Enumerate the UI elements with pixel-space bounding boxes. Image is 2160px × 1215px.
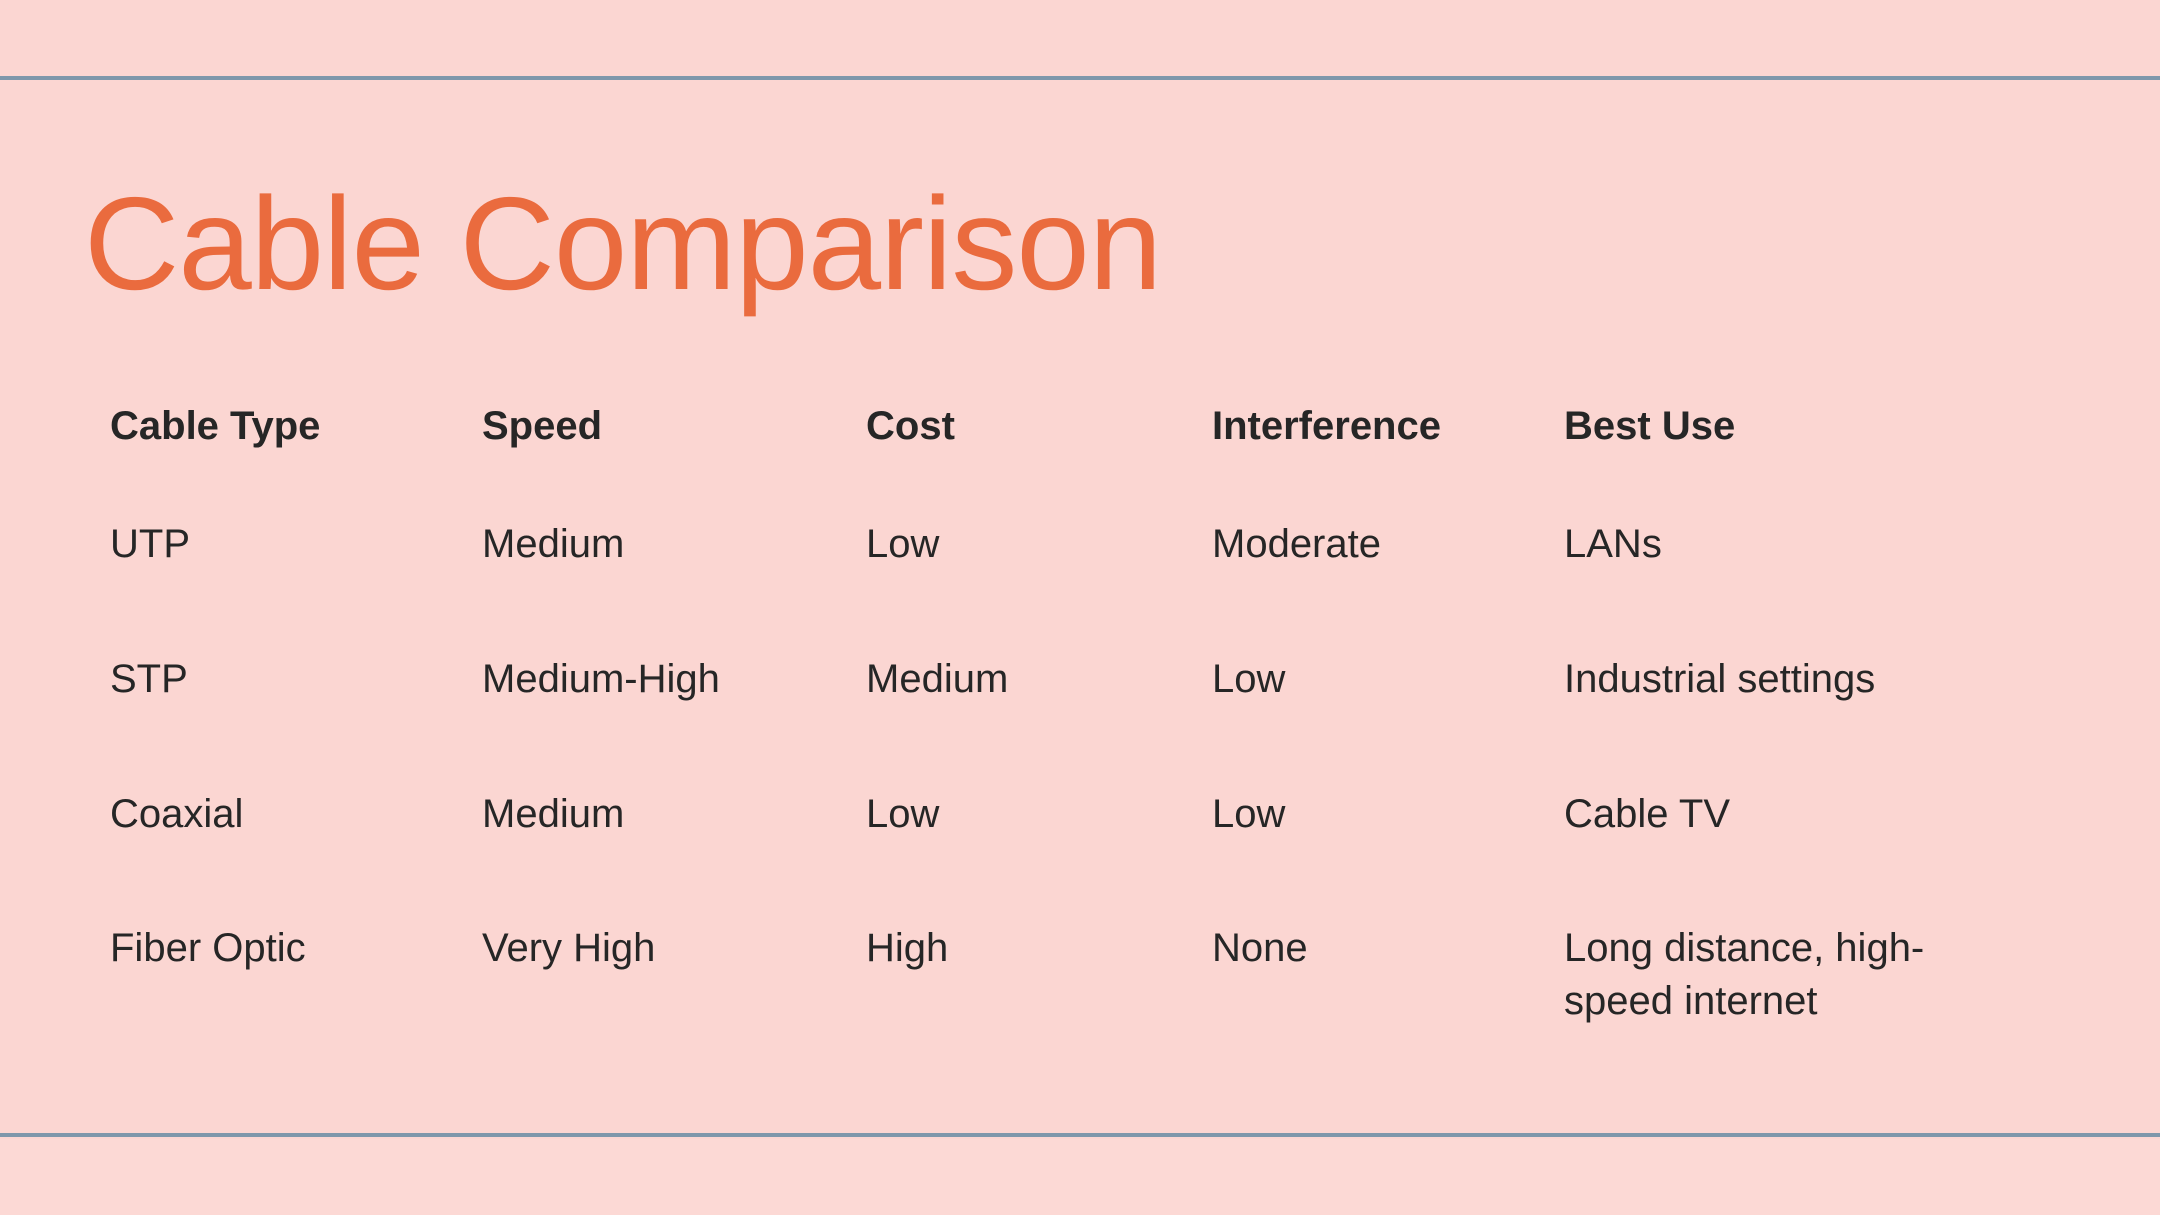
cell-cost: High	[866, 922, 1156, 975]
cell-speed: Medium	[482, 518, 812, 571]
column-header-interference: Interference	[1212, 400, 1532, 453]
cell-best-use: LANs	[1564, 518, 1984, 571]
column-header-cable-type: Cable Type	[110, 400, 440, 453]
cell-cable-type: UTP	[110, 518, 440, 571]
cable-comparison-table: Cable Type Speed Cost Interference Best …	[0, 0, 2160, 1215]
cell-cable-type: Fiber Optic	[110, 922, 440, 975]
cell-cable-type: STP	[110, 653, 440, 706]
cell-interference: Low	[1212, 653, 1532, 706]
column-header-cost: Cost	[866, 400, 1156, 453]
cell-speed: Medium	[482, 788, 812, 841]
cell-cost: Low	[866, 518, 1156, 571]
column-header-best-use: Best Use	[1564, 400, 1984, 453]
cell-cable-type: Coaxial	[110, 788, 440, 841]
slide: Cable Comparison Cable Type Speed Cost I…	[0, 0, 2160, 1215]
cell-cost: Medium	[866, 653, 1156, 706]
cell-best-use: Cable TV	[1564, 788, 1984, 841]
cell-cost: Low	[866, 788, 1156, 841]
cell-interference: Low	[1212, 788, 1532, 841]
cell-best-use: Long distance, high-speed internet	[1564, 922, 1984, 1028]
cell-best-use: Industrial settings	[1564, 653, 1984, 706]
column-header-speed: Speed	[482, 400, 812, 453]
cell-interference: None	[1212, 922, 1532, 975]
cell-speed: Very High	[482, 922, 812, 975]
cell-interference: Moderate	[1212, 518, 1532, 571]
cell-speed: Medium-High	[482, 653, 812, 706]
